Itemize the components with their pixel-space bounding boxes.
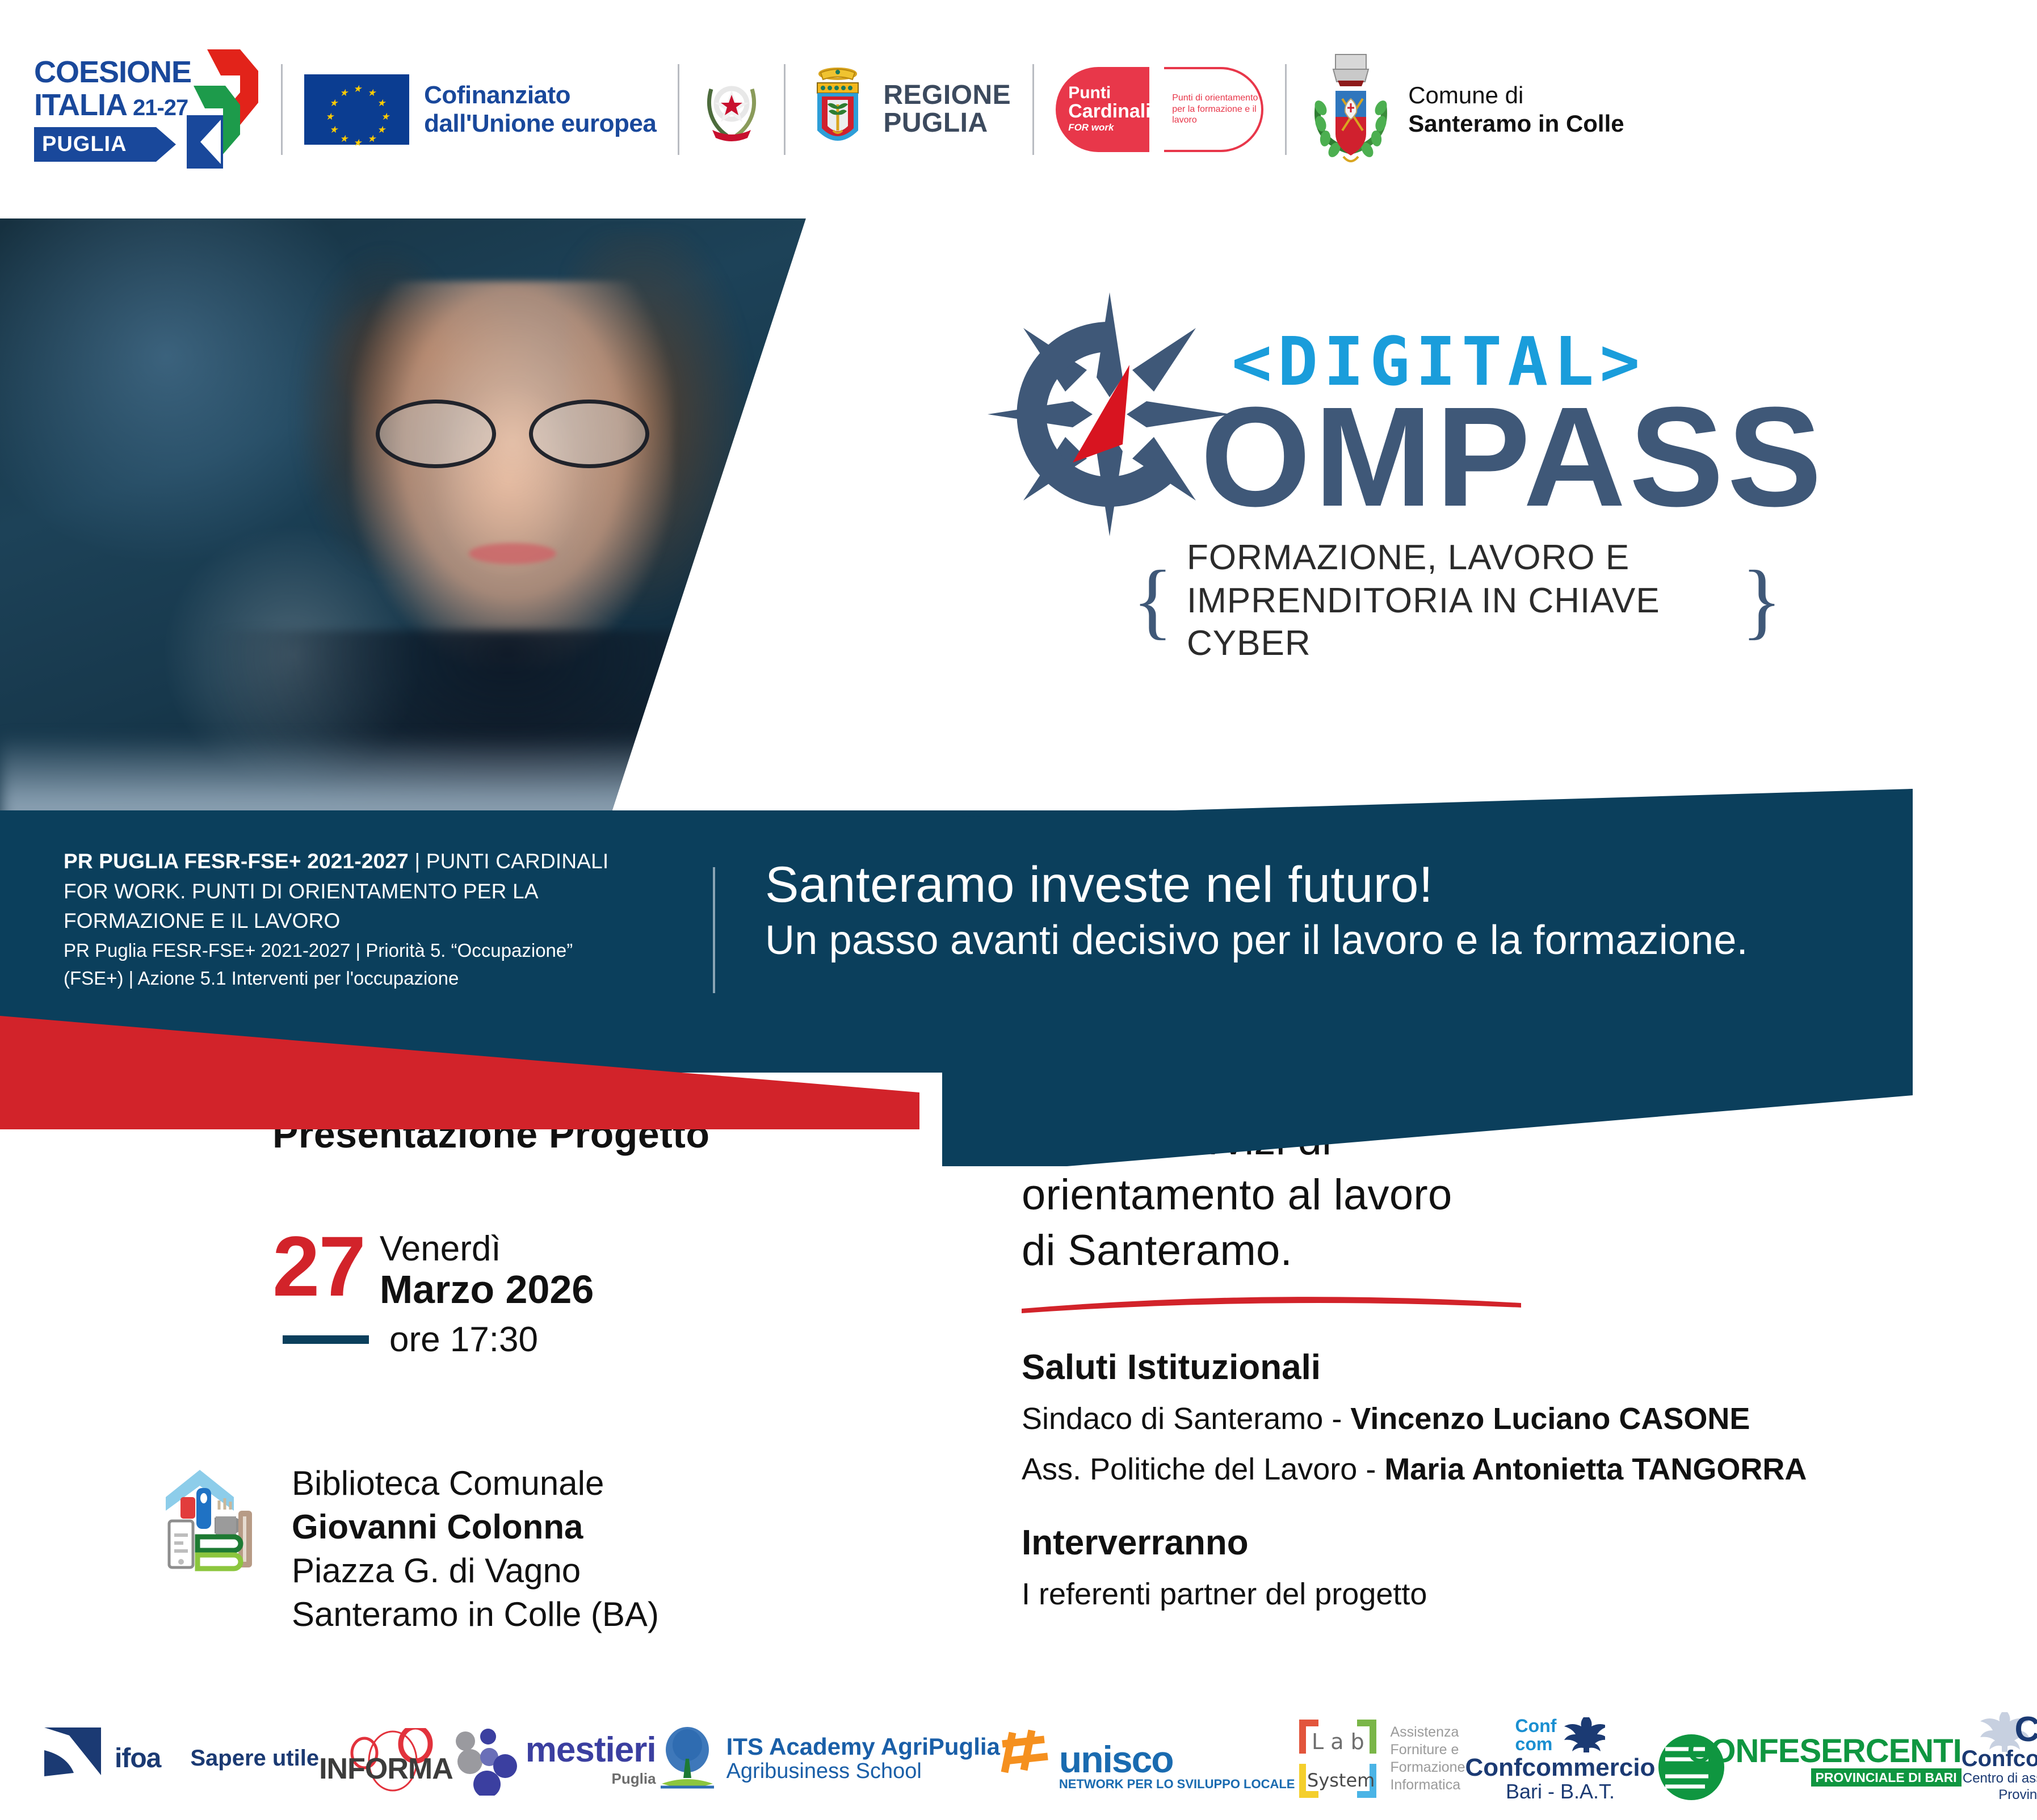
footer-logo-mestieri: mestieri Puglia — [453, 1722, 656, 1796]
footer-logo-confcommercio-bari: Conf com Confcommercio Bari - B.A.T. — [1465, 1715, 1655, 1802]
band-headline: Santeramo investe nel futuro! — [765, 857, 1748, 913]
svg-text:System: System — [1307, 1769, 1375, 1791]
lab-t1: Assistenza — [1390, 1724, 1465, 1741]
sapere-utile-text: Sapere utile — [190, 1746, 319, 1771]
informa-wordmark: INFORMA — [319, 1752, 453, 1786]
saluti-heading: Saluti Istituzionali — [1022, 1347, 1986, 1388]
its-line1: ITS Academy AgriPuglia — [726, 1734, 1000, 1760]
venue-line4: Santeramo in Colle (BA) — [292, 1593, 659, 1637]
punti-cardinali-desc-text: Punti di orientamento per la formazione … — [1172, 93, 1261, 126]
compass-rose-icon — [988, 292, 1232, 536]
time-rule — [283, 1335, 369, 1344]
logo-regione-puglia: REGIONE PUGLIA — [807, 67, 1011, 152]
punti-cardinali-descriptor: Punti di orientamento per la formazione … — [1164, 67, 1263, 152]
brace-open-icon: { — [1132, 562, 1173, 639]
saluti-item: Ass. Politiche del Lavoro - Maria Antoni… — [1022, 1451, 1986, 1489]
footer-tagline-sapere-utile: Sapere utile — [190, 1746, 319, 1771]
digital-compass-logo: <DIGITAL> OMPASS { FORMAZIONE, LAVORO E … — [988, 301, 1782, 539]
header-divider — [281, 64, 283, 155]
compass-wordmark: OMPASS — [1200, 386, 1825, 528]
event-when-where-column: Presentazione Progetto 27 Venerdì Marzo … — [272, 1112, 982, 1637]
lead-line2: orientamento al lavoro — [1022, 1171, 1452, 1219]
programme-line2: PR Puglia FESR-FSE+ 2021-2027 | Priorità… — [64, 936, 631, 993]
punti-cardinali-l3: FOR work — [1068, 122, 1149, 133]
its-line2: Agribusiness School — [726, 1760, 1000, 1783]
venue-line1: Biblioteca Comunale — [292, 1462, 659, 1506]
red-swoosh-divider — [1022, 1294, 1521, 1313]
coesione-line1: COESIONE — [34, 57, 191, 87]
hero-photo-glasses — [376, 400, 649, 468]
header-divider — [1285, 64, 1287, 155]
regione-puglia-crest-icon — [807, 67, 868, 152]
coesione-text-block: COESIONE ITALIA 21-27 PUGLIA — [34, 57, 191, 162]
saluti-role-1: Ass. Politiche del Lavoro - — [1022, 1452, 1384, 1486]
punti-cardinali-l2: Cardinali — [1068, 102, 1149, 122]
regione-puglia-label: REGIONE PUGLIA — [883, 82, 1011, 137]
eu-line1: Cofinanziato — [424, 81, 656, 109]
interverranno-text: I referenti partner del progetto — [1022, 1575, 1986, 1613]
comune-line1: Comune di — [1408, 81, 1624, 110]
coesione-italia-word: ITALIA — [34, 90, 127, 120]
unisco-wordmark: unisco — [1059, 1743, 1295, 1776]
footer-logo-informa: INFORMA — [319, 1731, 453, 1786]
footer-logo-its-academy: ITS Academy AgriPuglia Agribusiness Scho… — [656, 1725, 1000, 1793]
eu-line2: dall'Unione europea — [424, 110, 656, 137]
unisco-sub: NETWORK PER LO SVILUPPO LOCALE — [1059, 1777, 1295, 1792]
confcom-main: Confcommercio — [1465, 1755, 1655, 1781]
partner-logo-footer: ifoa Sapere utile INFORMA mestieri Pugli… — [0, 1697, 2037, 1820]
eu-flag-icon: ★★ ★★ ★★ ★★ ★★ ★★ — [304, 74, 409, 145]
band-vertical-rule — [713, 867, 715, 993]
hero-photo-detail — [351, 281, 674, 668]
saluti-name-1: Maria Antonietta TANGORRA — [1384, 1452, 1807, 1486]
event-weekday: Venerdì — [380, 1230, 594, 1267]
punti-cardinali-badge: Punti Cardinali FOR work — [1056, 67, 1149, 152]
programme-line1: PR PUGLIA FESR-FSE+ 2021-2027 | PUNTI CA… — [64, 847, 631, 936]
republic-emblem-icon — [701, 73, 762, 146]
header-divider — [1032, 64, 1034, 155]
mestieri-dots-icon — [453, 1722, 520, 1796]
confcom-com: com — [1515, 1735, 1557, 1753]
punti-cardinali-l1: Punti — [1068, 85, 1149, 102]
cat-sub1: Centro di assistenza tecnica — [1963, 1771, 2037, 1787]
logo-repubblica-italiana — [701, 73, 762, 146]
confesercenti-wordmark: CONFESERCENTI — [1687, 1732, 1961, 1770]
logo-comune-santeramo: Comune di Santeramo in Colle — [1308, 44, 1624, 175]
event-day-number: 27 — [272, 1230, 365, 1302]
confesercenti-sub: PROVINCIALE DI BARI — [1811, 1768, 1962, 1787]
interverranno-heading: Interverranno — [1022, 1523, 1986, 1563]
lab-system-descriptor: Assistenza Forniture e Formazione Inform… — [1390, 1724, 1465, 1794]
footer-logo-ifoa: ifoa — [40, 1725, 161, 1792]
event-date-lines: Venerdì Marzo 2026 — [380, 1230, 594, 1312]
footer-logo-unisco: unisco NETWORK PER LO SVILUPPO LOCALE — [1000, 1726, 1295, 1792]
its-tree-icon — [656, 1725, 719, 1793]
regione-line1: REGIONE — [883, 82, 1011, 110]
event-time: ore 17:30 — [389, 1319, 538, 1360]
header-divider — [678, 64, 679, 155]
saluti-name-0: Vincenzo Luciano CASONE — [1350, 1402, 1750, 1436]
regione-line2: PUGLIA — [883, 110, 1011, 137]
lab-t2: Forniture e — [1390, 1741, 1465, 1759]
comune-label: Comune di Santeramo in Colle — [1408, 81, 1624, 137]
cat-sub2: Provincia di Bari — [1998, 1787, 2037, 1804]
venue-line2: Giovanni Colonna — [292, 1506, 659, 1549]
footer-logo-confesercenti: CONFESERCENTI PROVINCIALE DI BARI — [1655, 1732, 1961, 1785]
library-icon — [159, 1462, 267, 1575]
logo-european-union: ★★ ★★ ★★ ★★ ★★ ★★ Cofinanziato dall'Unio… — [304, 74, 656, 145]
ifoa-wordmark: ifoa — [115, 1743, 161, 1774]
unisco-hash-icon — [1000, 1726, 1055, 1783]
logo-punti-cardinali: Punti Cardinali FOR work Punti di orient… — [1056, 67, 1263, 152]
partner-logo-header: COESIONE ITALIA 21-27 PUGLIA ★★ ★★ ★★ ★★… — [0, 0, 2037, 218]
coesione-years: 21-27 — [133, 96, 188, 119]
comune-line2: Santeramo in Colle — [1408, 110, 1624, 137]
saluti-role-0: Sindaco di Santeramo - — [1022, 1402, 1350, 1436]
footer-logo-cat-confcommercio: CAT Confcommercio Centro di assistenza t… — [1962, 1713, 2037, 1803]
venue-line3: Piazza G. di Vagno — [292, 1549, 659, 1593]
ifoa-mark-icon — [40, 1725, 107, 1792]
cat-wordmark: CAT — [2015, 1713, 2037, 1747]
confcom-conf: Conf — [1515, 1717, 1557, 1735]
header-divider — [784, 64, 786, 155]
coesione-arrow-icon — [186, 48, 259, 170]
confcom-sub: Bari - B.A.T. — [1506, 1781, 1615, 1802]
event-venue-block: Biblioteca Comunale Giovanni Colonna Pia… — [159, 1462, 982, 1636]
band-subheadline: Un passo avanti decisivo per il lavoro e… — [765, 916, 1748, 965]
logo-coesione-italia: COESIONE ITALIA 21-27 PUGLIA — [34, 48, 259, 170]
comune-crest-icon — [1308, 44, 1393, 175]
footer-logo-lab-system: L a b System Assistenza Forniture e Form… — [1295, 1716, 1465, 1801]
mestieri-sub: Puglia — [526, 1770, 656, 1788]
programme-reference-text: PR PUGLIA FESR-FSE+ 2021-2027 | PUNTI CA… — [64, 847, 631, 993]
event-time-block: ore 17:30 — [272, 1319, 982, 1360]
coesione-line2: ITALIA 21-27 — [34, 90, 191, 120]
mestieri-wordmark: mestieri — [526, 1730, 656, 1770]
lab-system-brackets-icon: L a b System — [1295, 1716, 1381, 1801]
tagline-line2: IMPRENDITORIA IN CHIAVE CYBER — [1187, 581, 1660, 663]
eu-label: Cofinanziato dall'Unione europea — [424, 81, 656, 137]
event-month-year: Marzo 2026 — [380, 1267, 594, 1312]
lead-line3: di Santeramo. — [1022, 1226, 1292, 1275]
compass-tagline: { FORMAZIONE, LAVORO E IMPRENDITORIA IN … — [1132, 536, 1782, 665]
lab-t4: Informatica — [1390, 1776, 1465, 1794]
confcommercio-eagle-icon — [1562, 1715, 1605, 1755]
venue-address: Biblioteca Comunale Giovanni Colonna Pia… — [292, 1462, 659, 1636]
lab-t3: Formazione — [1390, 1759, 1465, 1776]
compass-tagline-text: FORMAZIONE, LAVORO E IMPRENDITORIA IN CH… — [1187, 536, 1728, 665]
coesione-region-badge: PUGLIA — [34, 127, 176, 162]
saluti-item: Sindaco di Santeramo - Vincenzo Luciano … — [1022, 1400, 1986, 1438]
svg-text:L a b: L a b — [1312, 1729, 1364, 1754]
band-headline-block: Santeramo investe nel futuro! Un passo a… — [765, 857, 1748, 965]
tagline-line1: FORMAZIONE, LAVORO E — [1187, 538, 1629, 577]
event-details-section: Presentazione Progetto 27 Venerdì Marzo … — [0, 1112, 2037, 1686]
brace-close-icon: } — [1741, 562, 1782, 639]
event-date-block: 27 Venerdì Marzo 2026 — [272, 1230, 982, 1312]
event-programme-column: Al via i servizi di orientamento al lavo… — [1022, 1112, 1986, 1613]
